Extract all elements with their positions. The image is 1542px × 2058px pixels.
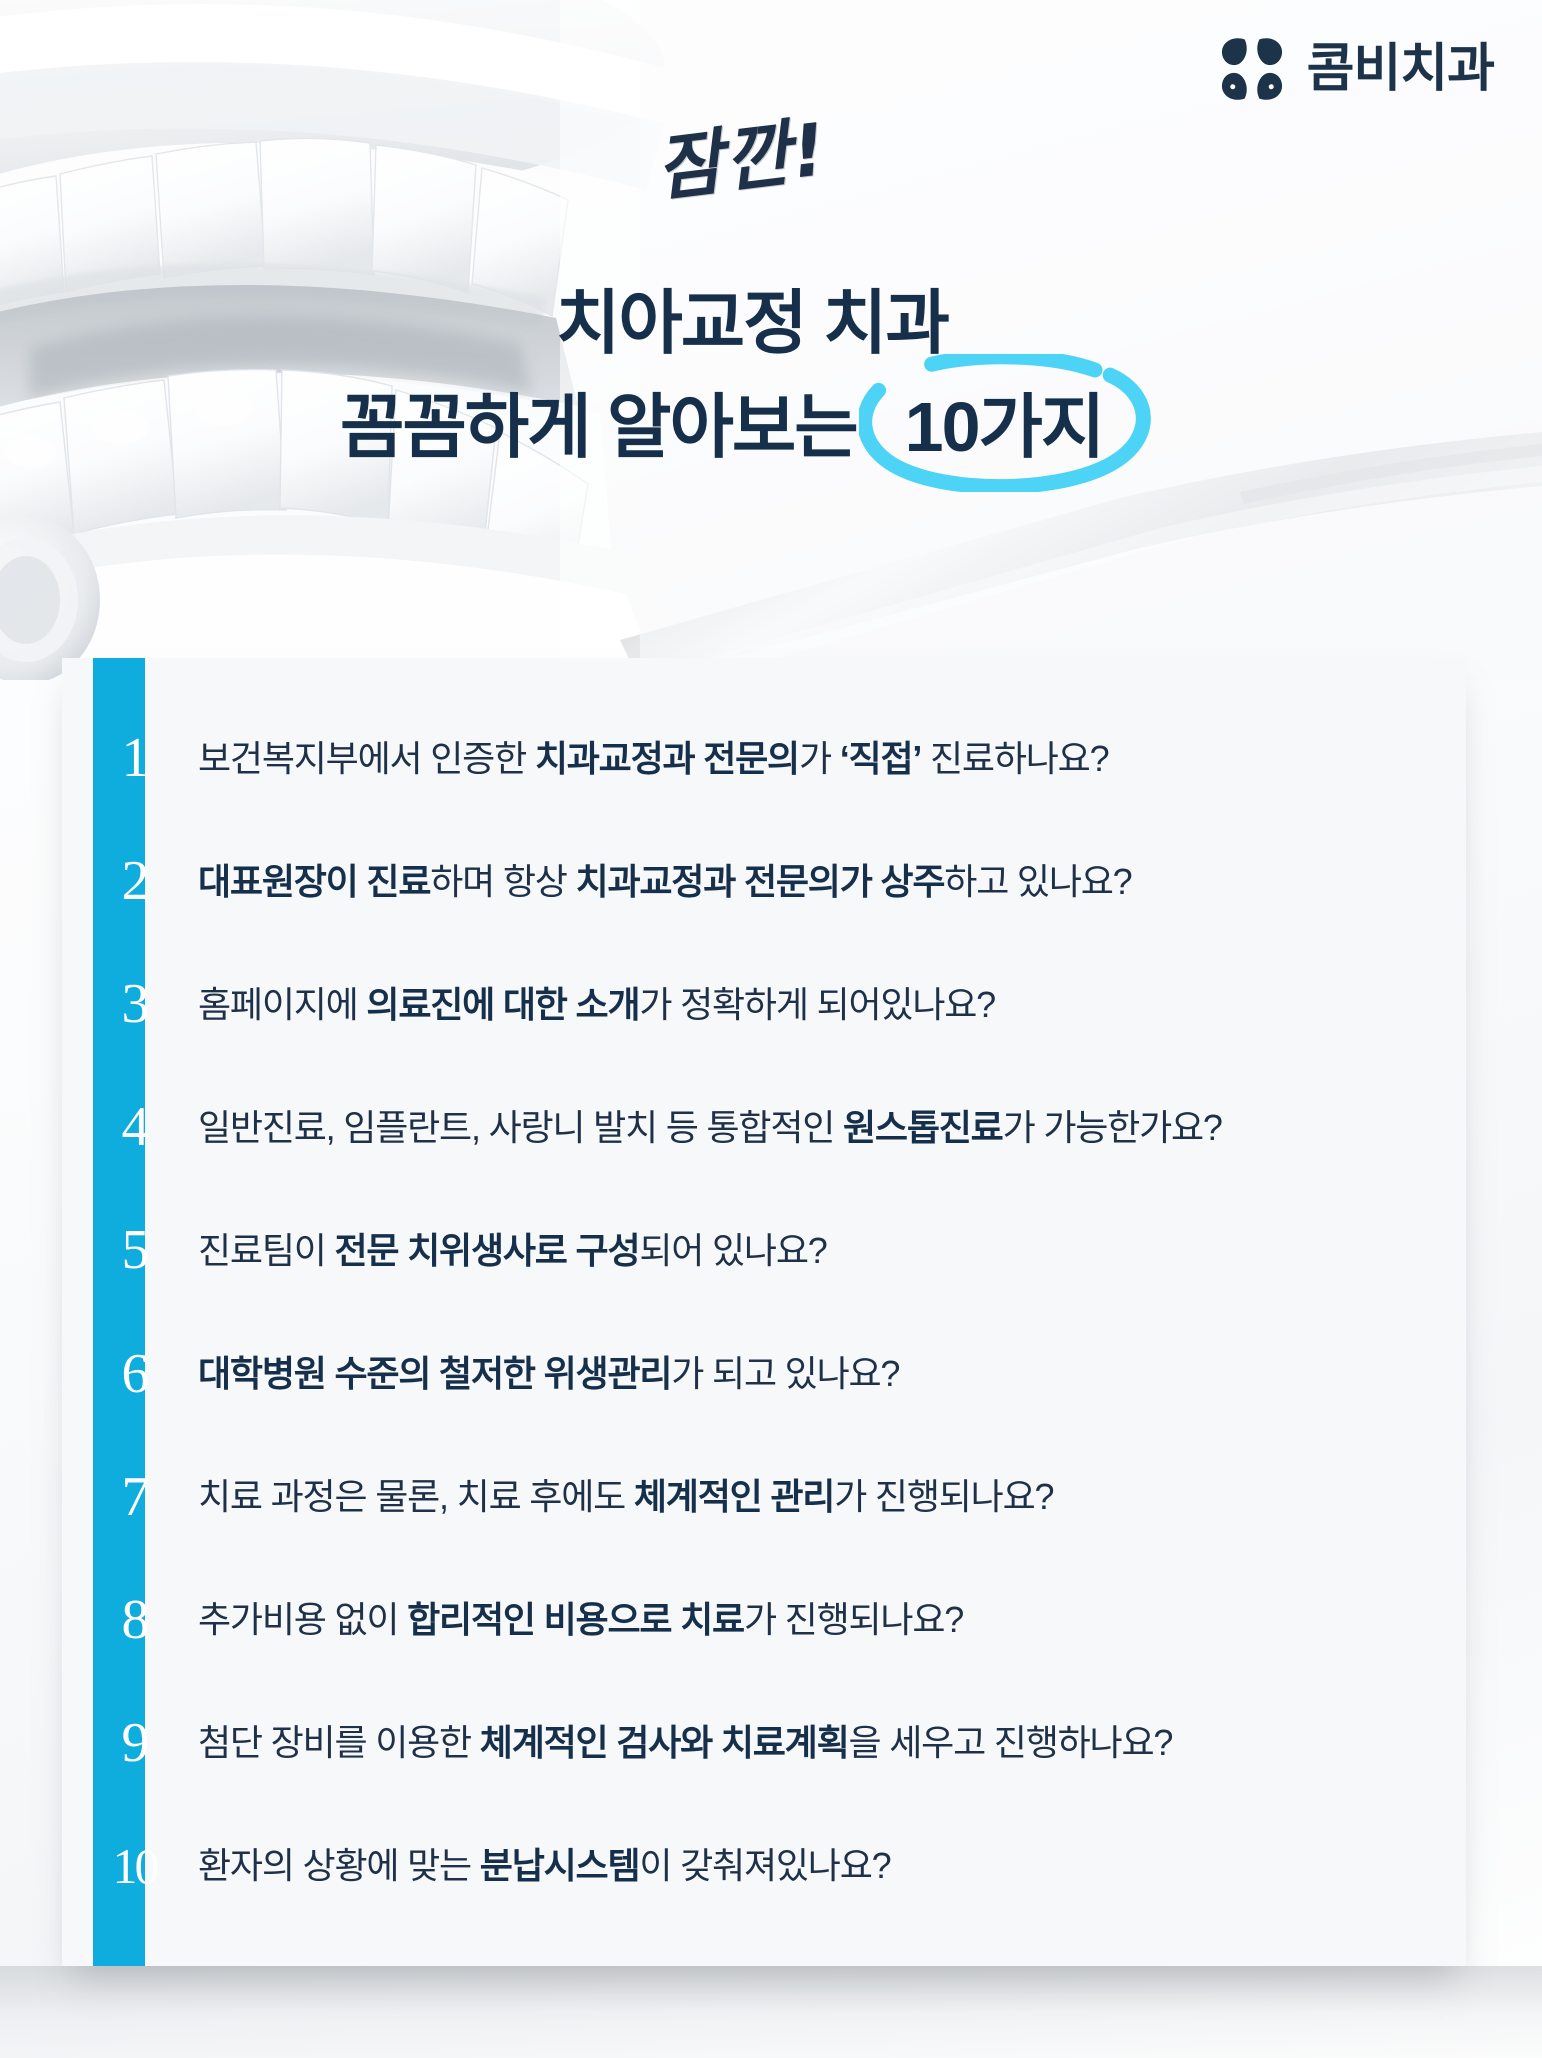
checklist-row-text: 보건복지부에서 인증한 치과교정과 전문의가 ‘직접’ 진료하나요? [198,736,1108,781]
checklist-emphasis: 대학병원 수준의 철저한 위생관리 [198,1353,671,1394]
checklist-plain: 보건복지부에서 인증한 [198,738,535,779]
checklist-emphasis: 의료진에 대한 소개 [366,984,639,1025]
checklist-row-number: 8 [93,1592,176,1648]
checklist-row: 7치료 과정은 물론, 치료 후에도 체계적인 관리가 진행되나요? [62,1441,1432,1553]
checklist-row-text: 대표원장이 진료하며 항상 치과교정과 전문의가 상주하고 있나요? [198,859,1132,904]
checklist-row: 10환자의 상황에 맞는 분납시스템이 갖춰져있나요? [62,1810,1432,1922]
checklist-row-number: 10 [93,1841,176,1891]
checklist-plain: 가 되고 있나요? [671,1353,899,1394]
checklist-emphasis: ‘직접’ [840,738,921,779]
checklist-emphasis: 대표원장이 진료 [198,861,430,902]
highlight-group: 10가지 [879,392,1130,462]
checklist-plain: 을 세우고 진행하나요? [849,1722,1173,1763]
checklist-row-number: 5 [93,1222,176,1278]
checklist-row-text: 일반진료, 임플란트, 사랑니 발치 등 통합적인 원스톱진료가 가능한가요? [198,1105,1222,1150]
checklist-row: 4일반진료, 임플란트, 사랑니 발치 등 통합적인 원스톱진료가 가능한가요? [62,1071,1432,1183]
checklist-emphasis: 원스톱진료 [843,1107,1003,1148]
checklist-plain: 가 정확하게 되어있나요? [639,984,995,1025]
checklist-emphasis: 전문 치위생사로 구성 [334,1230,639,1271]
checklist-row: 5진료팀이 전문 치위생사로 구성되어 있나요? [62,1194,1432,1306]
checklist-plain: 가 [799,738,840,779]
checklist-plain: 진료팀이 [198,1230,334,1271]
checklist-emphasis: 체계적인 검사와 치료계획 [480,1722,849,1763]
checklist-plain: 환자의 상황에 맞는 [198,1845,480,1886]
checklist-row-text: 환자의 상황에 맞는 분납시스템이 갖춰져있나요? [198,1843,890,1888]
checklist-row-number: 3 [93,976,176,1032]
checklist-row-number: 1 [93,730,176,786]
checklist-row-number: 2 [93,853,176,909]
checklist-emphasis: 체계적인 관리 [634,1476,834,1517]
checklist-row-number: 7 [93,1469,176,1525]
checklist-plain: 추가비용 없이 [198,1599,407,1640]
bottom-shadow-fade [0,1966,1542,2058]
checklist-plain: 홈페이지에 [198,984,366,1025]
checklist-plain: 일반진료, 임플란트, 사랑니 발치 등 통합적인 [198,1107,843,1148]
checklist-emphasis: 분납시스템 [480,1845,640,1886]
checklist-plain: 진료하나요? [921,738,1108,779]
checklist-plain: 하고 있나요? [944,861,1131,902]
checklist-plain: 이 갖춰져있나요? [639,1845,890,1886]
highlight-count-text: 10가지 [905,388,1104,466]
checklist-emphasis: 치과교정과 전문의가 상주 [576,861,945,902]
checklist-row: 9첨단 장비를 이용한 체계적인 검사와 치료계획을 세우고 진행하나요? [62,1687,1432,1799]
checklist-row: 3홈페이지에 의료진에 대한 소개가 정확하게 되어있나요? [62,948,1432,1060]
checklist-emphasis: 합리적인 비용으로 치료 [407,1599,744,1640]
checklist-row-number: 9 [93,1715,176,1771]
checklist-row: 8추가비용 없이 합리적인 비용으로 치료가 진행되나요? [62,1564,1432,1676]
checklist-row: 6대학병원 수준의 철저한 위생관리가 되고 있나요? [62,1318,1432,1430]
checklist-row-text: 치료 과정은 물론, 치료 후에도 체계적인 관리가 진행되나요? [198,1474,1053,1519]
checklist-row-number: 4 [93,1099,176,1155]
checklist-row-text: 홈페이지에 의료진에 대한 소개가 정확하게 되어있나요? [198,982,995,1027]
checklist-plain: 치료 과정은 물론, 치료 후에도 [198,1476,634,1517]
checklist-row-number: 6 [93,1346,176,1402]
poster-canvas: 콤비치과 잠깐! 치아교정 치과 꼼꼼하게 알아보는 10가지 1보건복지부에서… [0,0,1542,2058]
checklist-plain: 가 가능한가요? [1003,1107,1222,1148]
checklist-row: 1보건복지부에서 인증한 치과교정과 전문의가 ‘직접’ 진료하나요? [62,702,1432,814]
checklist-rows: 1보건복지부에서 인증한 치과교정과 전문의가 ‘직접’ 진료하나요?2대표원장… [62,658,1466,1966]
checklist-row-text: 첨단 장비를 이용한 체계적인 검사와 치료계획을 세우고 진행하나요? [198,1720,1172,1765]
checklist-row-text: 추가비용 없이 합리적인 비용으로 치료가 진행되나요? [198,1597,963,1642]
checklist-plain: 첨단 장비를 이용한 [198,1722,480,1763]
checklist-emphasis: 치과교정과 전문의 [535,738,799,779]
headline-eyebrow: 잠깐! [649,90,832,215]
headline-line-2: 꼼꼼하게 알아보는 10가지 [340,392,1129,462]
checklist-plain: 되어 있나요? [639,1230,826,1271]
brand-logo-text: 콤비치과 [1307,43,1494,95]
headline-line-2-prefix: 꼼꼼하게 알아보는 [340,392,857,462]
checklist-row-text: 대학병원 수준의 철저한 위생관리가 되고 있나요? [198,1351,899,1396]
brand-logo[interactable]: 콤비치과 [1215,32,1494,106]
headline-line-1: 치아교정 치과 [556,288,948,358]
checklist-plain: 가 진행되나요? [834,1476,1053,1517]
checklist-card: 1보건복지부에서 인증한 치과교정과 전문의가 ‘직접’ 진료하나요?2대표원장… [62,658,1466,1966]
checklist-row-text: 진료팀이 전문 치위생사로 구성되어 있나요? [198,1228,827,1273]
checklist-plain: 하며 항상 [430,861,575,902]
clover-four-petal-icon [1215,32,1289,106]
checklist-plain: 가 진행되나요? [744,1599,963,1640]
checklist-row: 2대표원장이 진료하며 항상 치과교정과 전문의가 상주하고 있나요? [62,825,1432,937]
